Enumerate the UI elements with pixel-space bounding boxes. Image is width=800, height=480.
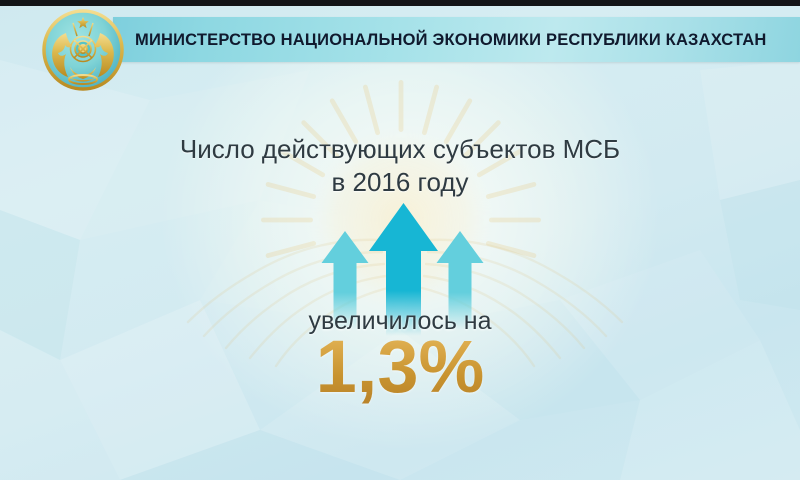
infographic-slide: МИНИСТЕРСТВО НАЦИОНАЛЬНОЙ ЭКОНОМИКИ РЕСП… bbox=[0, 0, 800, 480]
big-percentage-value: 1,3% bbox=[0, 330, 800, 404]
page-title: Число действующих субъектов МСБ в 2016 г… bbox=[0, 133, 800, 199]
page-title-line2: в 2016 году bbox=[0, 166, 800, 199]
top-black-strip bbox=[0, 0, 800, 6]
page-title-line1: Число действующих субъектов МСБ bbox=[180, 134, 620, 164]
kazakhstan-coat-of-arms-emblem bbox=[40, 7, 126, 93]
ministry-title-text: МИНИСТЕРСТВО НАЦИОНАЛЬНОЙ ЭКОНОМИКИ РЕСП… bbox=[135, 26, 795, 54]
